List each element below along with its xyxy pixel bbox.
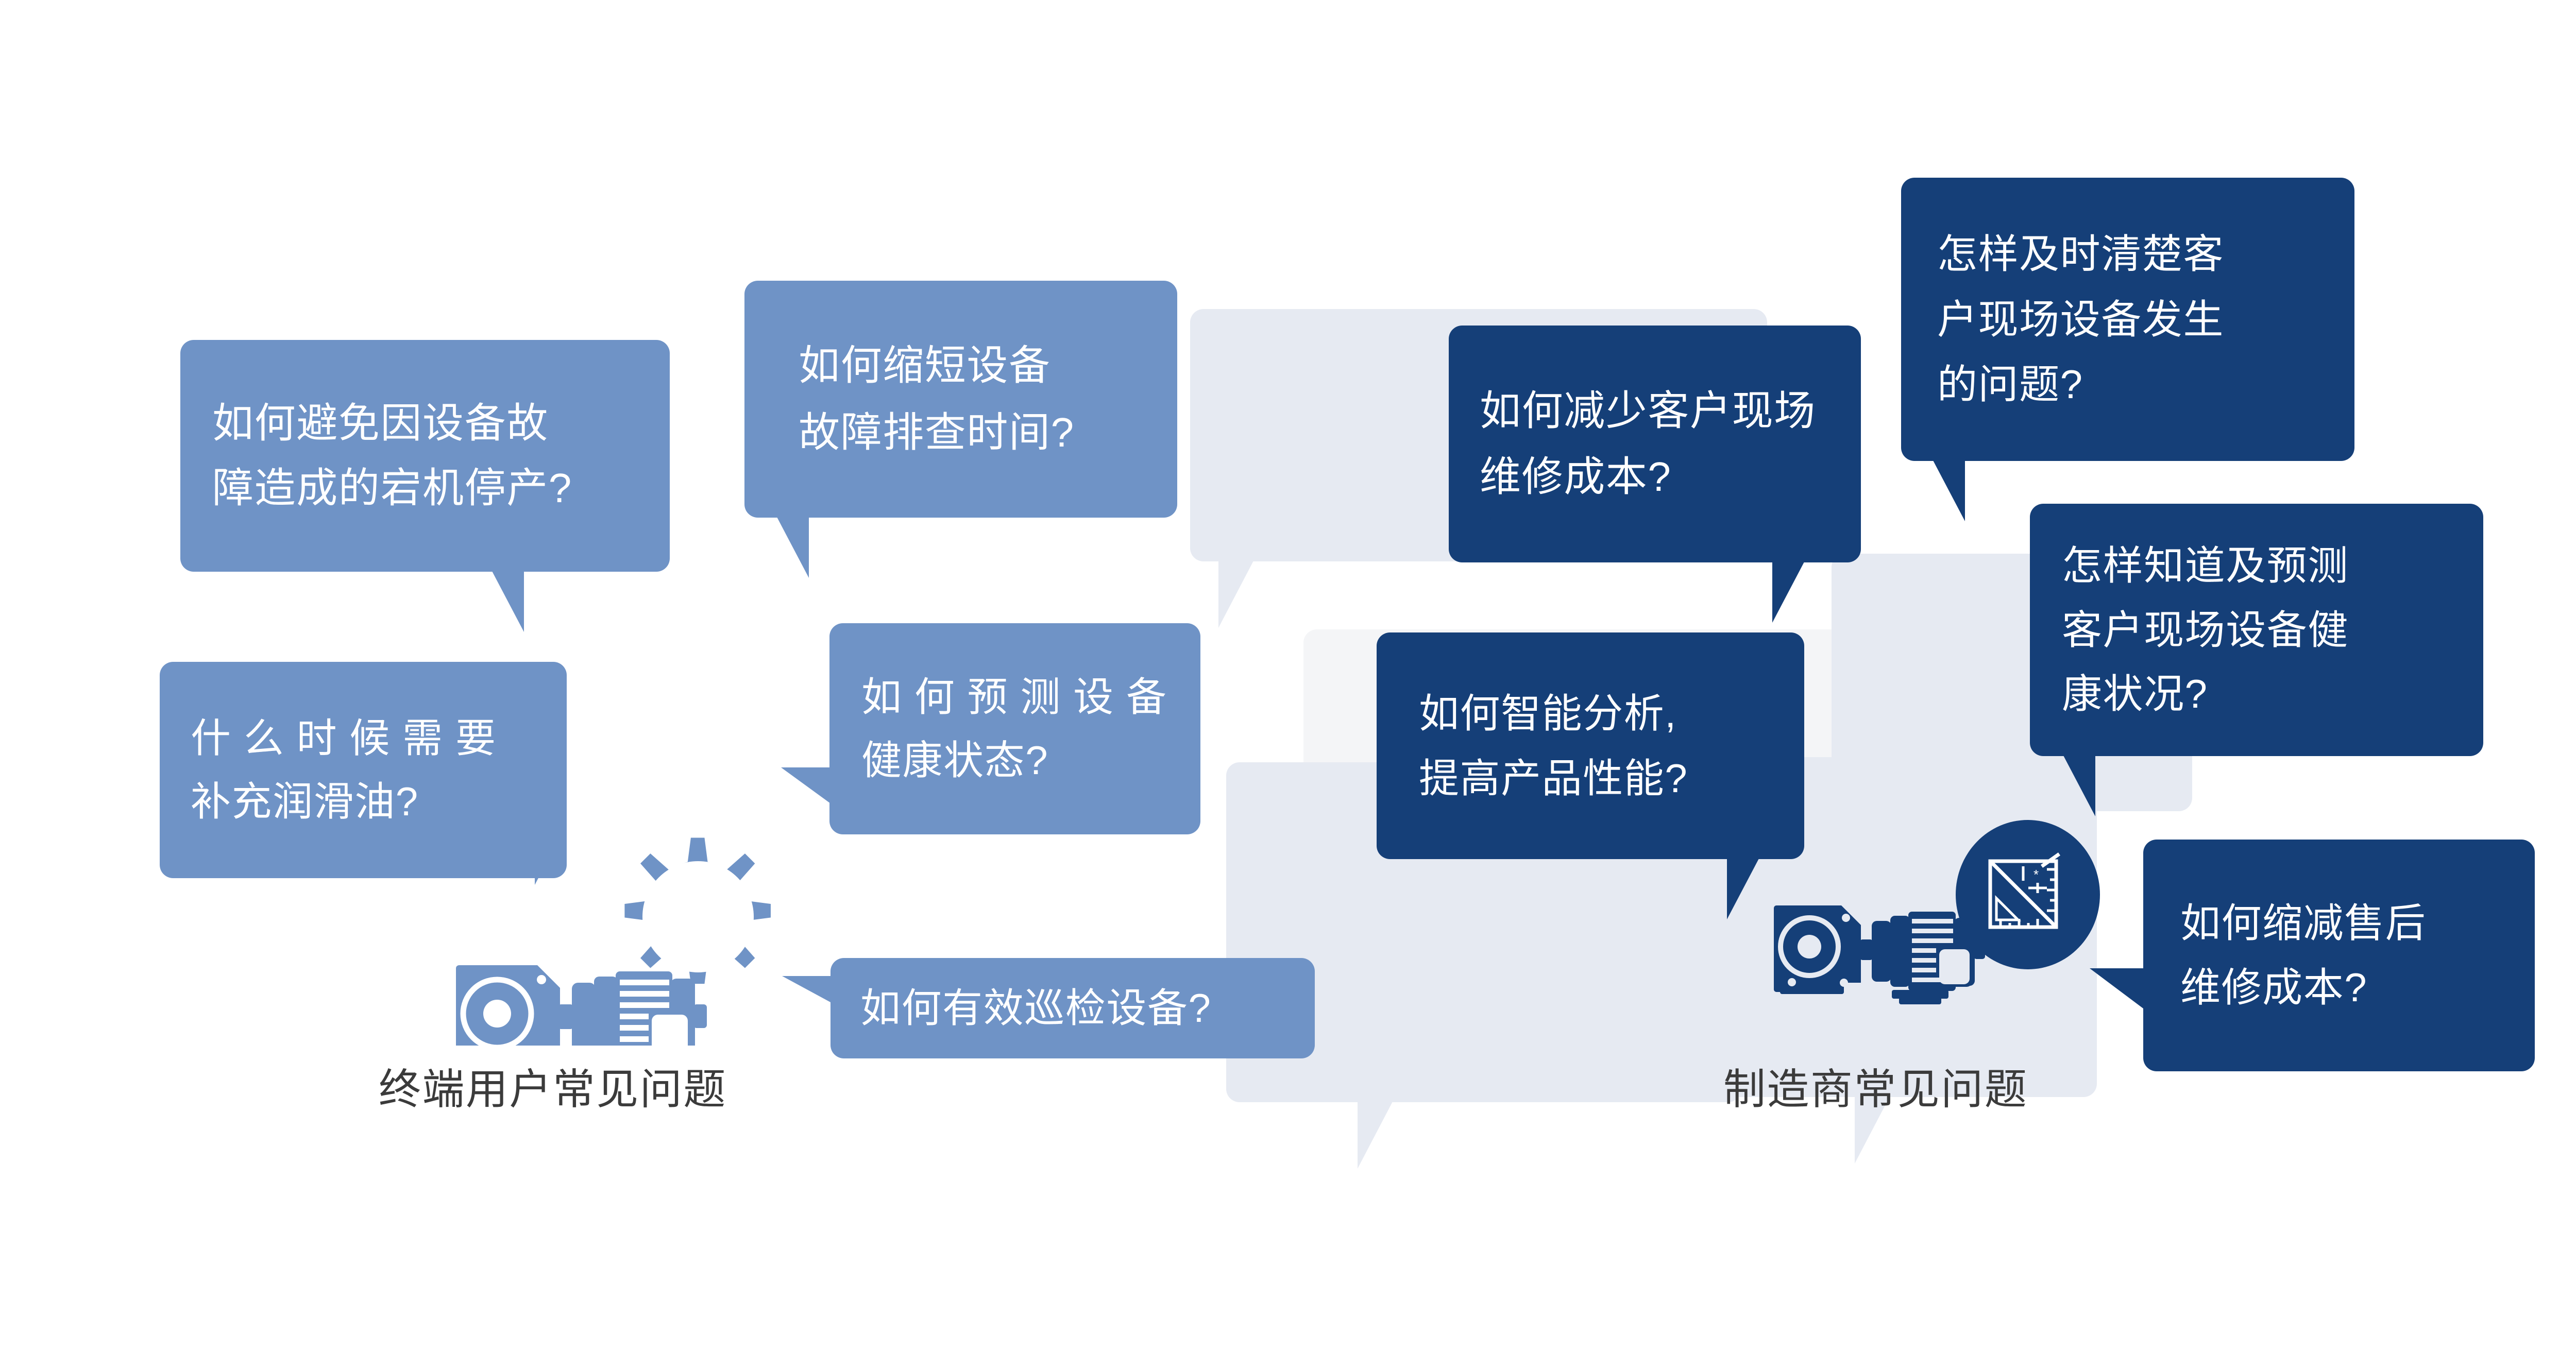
bubble-line: 提高产品性能? (1419, 746, 1762, 811)
bubble-effective-inspection[interactable]: 如何有效巡检设备? (831, 958, 1315, 1058)
bubble-line: 如何智能分析, (1419, 681, 1762, 746)
bubble-line: 故障排查时间? (799, 399, 1123, 466)
bubble-smart-analysis-tail (1727, 859, 1759, 919)
bubble-line: 的问题? (1937, 352, 2318, 417)
bubble-predict-health-tail (781, 767, 831, 803)
bubble-line: 如何避免因设备故 (212, 391, 638, 456)
bubble-reduce-onsite-repair-cost[interactable]: 如何减少客户现场 维修成本? (1449, 326, 1861, 562)
bubble-line: 康状况? (2062, 662, 2451, 726)
drafting-tools-badge: * (1956, 820, 2100, 969)
bolt (1788, 978, 1796, 986)
drafting-tools-icon: * (1984, 851, 2072, 938)
svg-text:*: * (2033, 867, 2039, 882)
end-user-icon-group (440, 819, 801, 1046)
gear-hub (642, 861, 754, 972)
bubble-line: 如何减少客户现场 (1480, 378, 1830, 444)
motor-terminal-box (1939, 949, 1970, 984)
bubble-line: 怎样知道及预测 (2062, 534, 2451, 598)
bubble-line: 什 么 时 候 需 要 (191, 707, 536, 770)
gearbox-shaft (483, 1000, 511, 1028)
bubble-line: 健康状态? (861, 729, 1168, 792)
bubble-line: 如何缩短设备 (799, 332, 1123, 399)
bubble-line: 客户现场设备健 (2062, 598, 2451, 662)
bubble-line: 户现场设备发生 (1937, 287, 2318, 352)
bubble-avoid-downtime[interactable]: 如何避免因设备故 障造成的宕机停产? (180, 340, 670, 572)
bubble-line: 障造成的宕机停产? (212, 456, 638, 521)
gear-motor-icon (440, 819, 801, 1046)
bolt (537, 975, 546, 984)
bubble-predict-onsite-health-tail (2063, 756, 2095, 816)
bubble-line: 维修成本? (2180, 955, 2498, 1020)
bubble-predict-onsite-health[interactable]: 怎样知道及预测 客户现场设备健 康状况? (2030, 504, 2483, 756)
bubble-reduce-aftersales-cost[interactable]: 如何缩减售后 维修成本? (2143, 840, 2535, 1071)
manufacturer-caption: 制造商常见问题 (1723, 1055, 2028, 1116)
decorative-bubble-1-tail (1218, 561, 1253, 628)
bubble-reduce-onsite-repair-cost-tail (1772, 562, 1804, 623)
bubble-reduce-aftersales-cost-tail (2090, 968, 2143, 1008)
bubble-avoid-downtime-tail (492, 571, 524, 632)
gearbox-shaft (1798, 935, 1821, 959)
infographic-canvas: 如何避免因设备故 障造成的宕机停产? 什 么 时 候 需 要 补充润滑油? 如何… (0, 0, 2576, 1369)
motor-terminal-box (652, 1015, 688, 1046)
bolt (1842, 914, 1850, 922)
bubble-predict-health[interactable]: 如 何 预 测 设 备 健康状态? (829, 623, 1200, 834)
bolt (1840, 979, 1848, 987)
bubble-smart-analysis[interactable]: 如何智能分析, 提高产品性能? (1377, 632, 1804, 859)
decorative-bubble-3-tail (1358, 1102, 1393, 1169)
bubble-shorten-troubleshoot[interactable]: 如何缩短设备 故障排查时间? (744, 281, 1177, 518)
bubble-line: 维修成本? (1480, 444, 1830, 510)
end-user-caption: 终端用户常见问题 (379, 1055, 727, 1116)
bubble-line: 怎样及时清楚客 (1937, 221, 2318, 286)
bubble-line: 如 何 预 测 设 备 (861, 665, 1168, 729)
bubble-know-onsite-issues-tail (1933, 460, 1965, 521)
bubble-line: 如何有效巡检设备? (860, 984, 1285, 1033)
bubble-shorten-troubleshoot-tail (777, 517, 809, 578)
bubble-know-onsite-issues[interactable]: 怎样及时清楚客 户现场设备发生 的问题? (1901, 178, 2354, 461)
bubble-line: 如何缩减售后 (2180, 891, 2498, 955)
